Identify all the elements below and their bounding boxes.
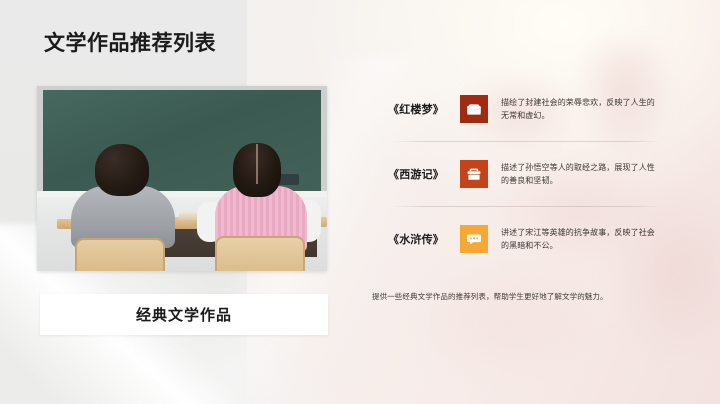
- list-divider: [392, 141, 660, 142]
- briefcase-icon: [460, 160, 488, 188]
- caption-box: 经典文学作品: [40, 294, 328, 335]
- caption-box-label: 经典文学作品: [136, 304, 232, 325]
- list-item[interactable]: 《水浒传》 讲述了宋江等英雄的抗争故事，反映了社会的黑暗和不公。: [388, 212, 660, 266]
- list-item-description: 描述了孙悟空等人的取经之路，展现了人性的善良和坚韧。: [501, 161, 660, 187]
- list-item-title: 《西游记》: [388, 166, 458, 182]
- photo-chair-right: [215, 236, 305, 271]
- list-item-title: 《水浒传》: [388, 231, 458, 247]
- recommendation-list: 《红楼梦》 描绘了封建社会的荣辱悲欢，反映了人生的无常和虚幻。 《西游记》: [388, 82, 660, 266]
- list-divider: [392, 206, 660, 207]
- sofa-icon: [460, 95, 488, 123]
- list-item-title: 《红楼梦》: [388, 101, 458, 117]
- list-item-description: 描绘了封建社会的荣辱悲欢，反映了人生的无常和虚幻。: [501, 96, 660, 122]
- classroom-photo: [37, 86, 327, 271]
- photo-chair-left: [75, 238, 165, 271]
- list-item-description: 讲述了宋江等英雄的抗争故事，反映了社会的黑暗和不公。: [501, 226, 660, 252]
- slide-canvas: 文学作品推荐列表 经典文学作品 《红楼梦》: [0, 0, 720, 404]
- chat-bubble-icon: [460, 225, 488, 253]
- footnote: 提供一些经典文学作品的推荐列表，帮助学生更好地了解文学的魅力。: [372, 291, 672, 303]
- list-item[interactable]: 《红楼梦》 描绘了封建社会的荣辱悲欢，反映了人生的无常和虚幻。: [388, 82, 660, 136]
- page-title: 文学作品推荐列表: [44, 27, 216, 57]
- photo-student-boy-head: [95, 144, 149, 196]
- photo-student-girl-hair-part: [256, 144, 258, 184]
- list-item[interactable]: 《西游记》 描述了孙悟空等人的取经之路，展现了人性的善良和坚韧。: [388, 147, 660, 201]
